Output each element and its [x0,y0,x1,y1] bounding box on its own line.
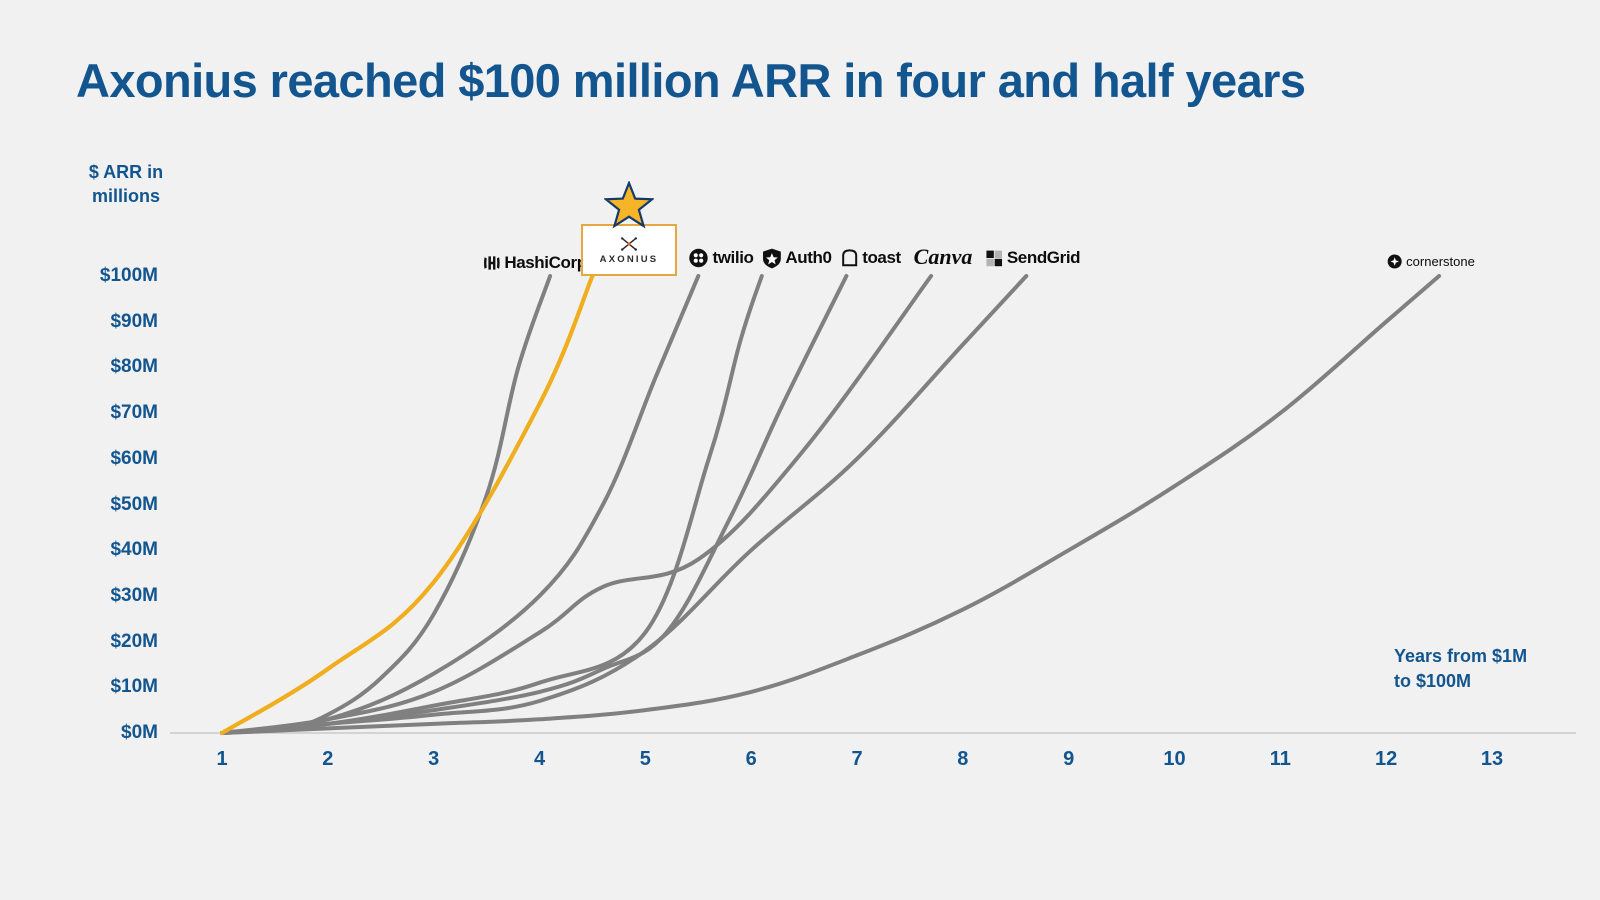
axonius-highlight-card[interactable]: AXONIUS [581,224,677,276]
cornerstone-icon [1387,254,1402,269]
series-line-auth0 [222,276,762,733]
series-logo-label-toast: toast [862,248,901,268]
series-logo-label-cornerstone: cornerstone [1406,254,1475,269]
toast-icon [841,249,858,267]
series-line-canva [222,276,931,733]
sendgrid-icon [986,250,1003,267]
series-logo-canva[interactable]: Canva [914,244,973,270]
twilio-icon [688,248,708,268]
chart-canvas: Axonius reached $100 million ARR in four… [0,0,1600,900]
series-line-cornerstone [222,276,1439,733]
axonius-icon [619,236,639,252]
hashicorp-icon [483,254,500,272]
series-logo-label-canva: Canva [914,244,973,270]
series-logo-label-auth0: Auth0 [785,248,831,268]
series-logo-label-hashicorp: HashiCorp [504,253,586,273]
series-logo-twilio[interactable]: twilio [688,245,753,271]
series-logo-auth0[interactable]: Auth0 [762,245,831,271]
auth0-icon [762,248,781,269]
series-logo-cornerstone[interactable]: cornerstone [1387,248,1475,274]
series-lines [222,276,1439,733]
series-line-hashicorp [222,276,550,733]
series-logo-hashicorp[interactable]: HashiCorp [483,250,586,276]
star-icon [604,181,654,229]
series-line-toast [222,276,846,733]
axonius-wordmark: AXONIUS [600,254,659,265]
series-logo-label-twilio: twilio [712,248,753,268]
plot-area [0,0,1600,900]
series-logo-sendgrid[interactable]: SendGrid [986,245,1080,271]
series-logo-label-sendgrid: SendGrid [1007,248,1080,268]
series-logo-toast[interactable]: toast [841,245,901,271]
series-line-sendgrid [222,276,1026,733]
series-line-axonius [222,276,592,733]
